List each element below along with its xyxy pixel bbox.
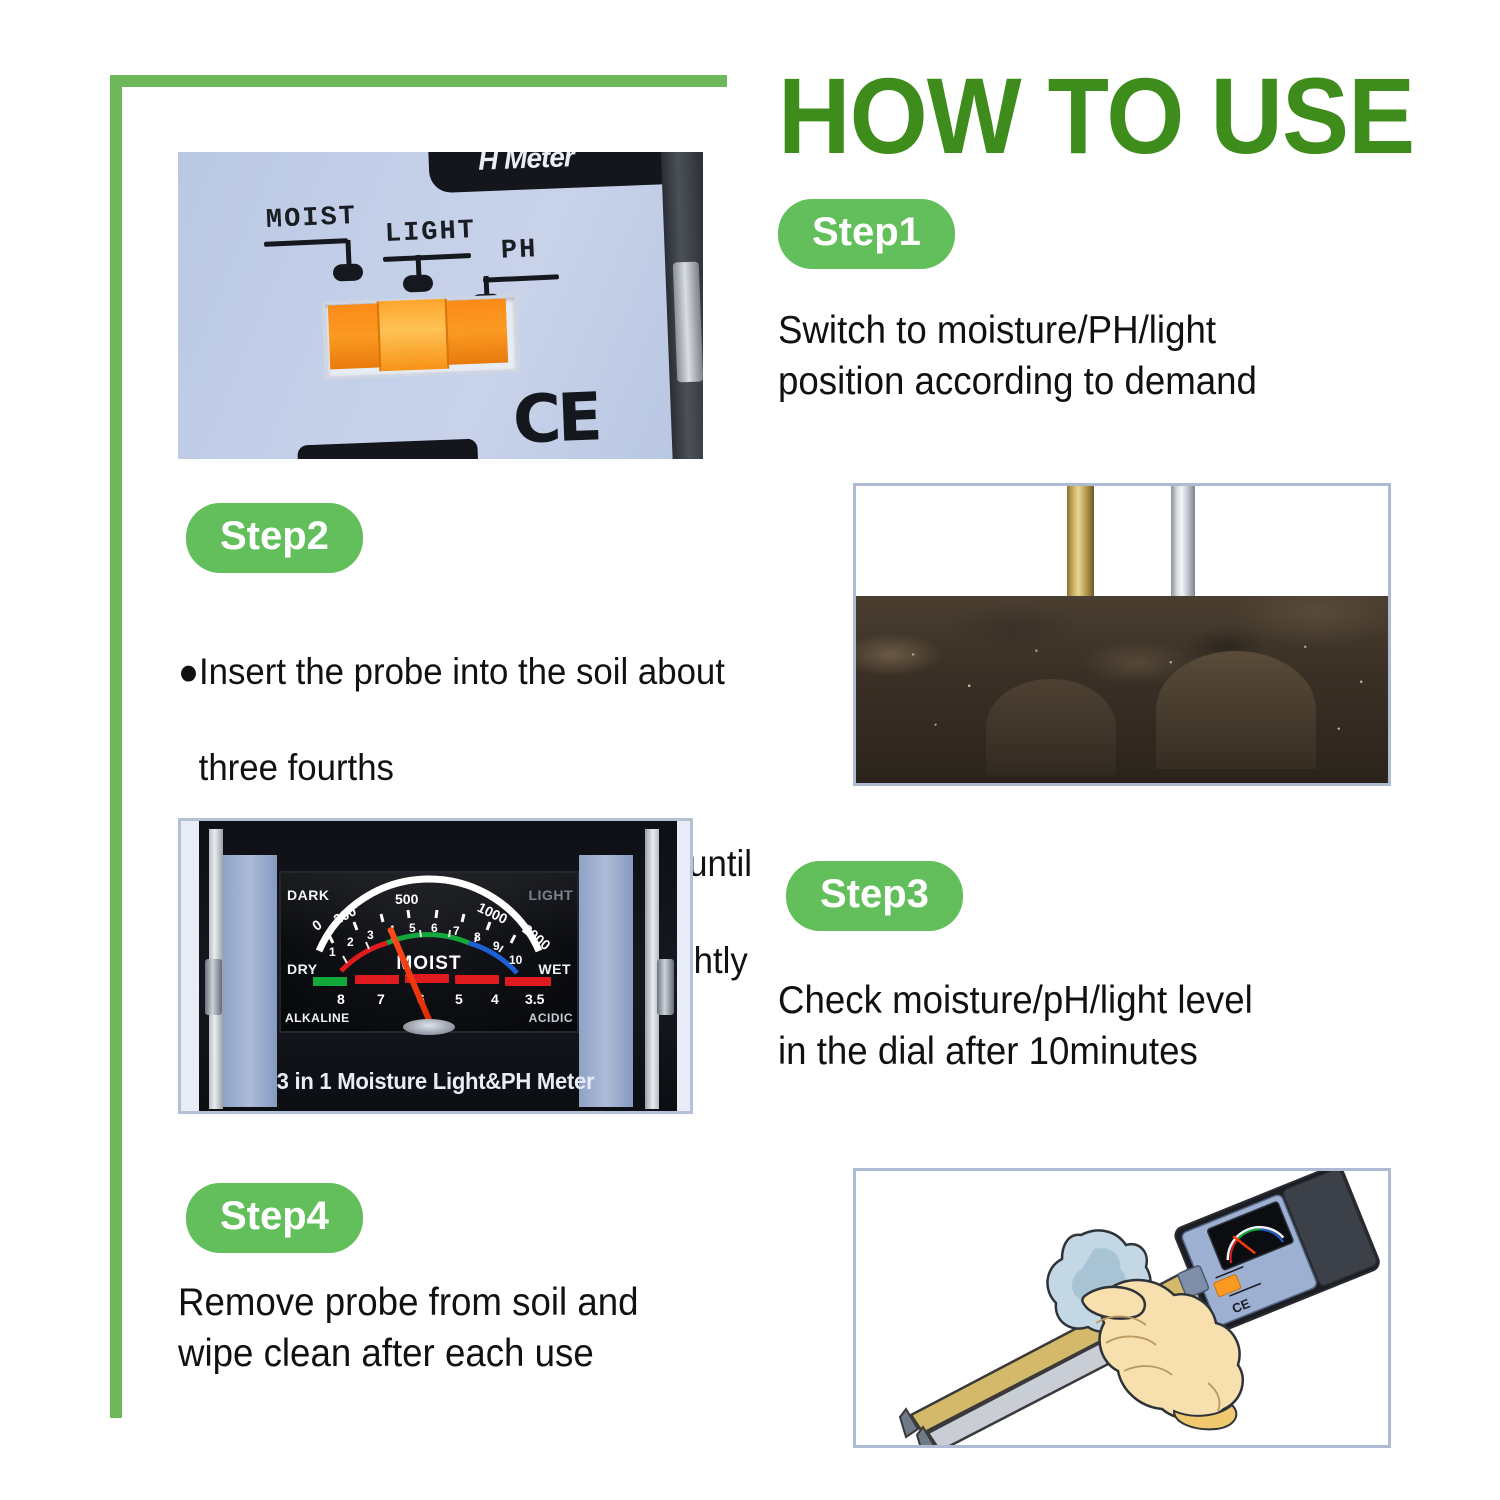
meter-clip-right	[657, 959, 674, 1015]
slider-grip[interactable]	[377, 299, 450, 372]
ph-tick-4: 4	[491, 991, 499, 1007]
moist-tick-6: 6	[431, 921, 438, 935]
ph-tick-8: 8	[337, 991, 345, 1007]
moist-tick-9: 9	[493, 939, 500, 953]
moist-tick-8: 8	[474, 930, 481, 944]
dial-face: DARK LIGHT DRY WET ALKALINE ACIDIC	[279, 871, 579, 1033]
green-border-top	[110, 75, 727, 87]
position-dot-moist	[333, 263, 364, 281]
step2-bullet-1-lead: ●Insert the probe into the soil about	[178, 648, 817, 696]
switch-label-moist: MOIST	[265, 202, 357, 236]
switch-label-ph: PH	[500, 235, 538, 267]
moist-tick-3: 3	[367, 928, 374, 942]
step2-bullet-1-cont: three fourths	[178, 744, 817, 792]
soil-mound-right	[1156, 651, 1316, 769]
ce-mark-icon: CE	[512, 378, 600, 458]
dial-scale-arcs	[281, 873, 577, 1031]
step1-badge: Step1	[778, 199, 955, 269]
step3-text: Check moisture/pH/light level in the dia…	[778, 975, 1398, 1078]
step3-badge: Step3	[786, 861, 963, 931]
dial-bar-red-4	[505, 977, 551, 986]
stem-light	[416, 255, 422, 277]
page-title: HOW TO USE	[778, 62, 1414, 170]
dial-bar-red-3	[455, 975, 499, 984]
wipe-probes-illustration: CE	[853, 1168, 1391, 1448]
step2-badge: Step2	[186, 503, 363, 573]
moist-tick-1: 1	[329, 945, 336, 959]
green-border-left	[110, 75, 122, 1418]
meter-clip-left	[205, 959, 222, 1015]
ph-tick-7: 7	[377, 991, 385, 1007]
probes-in-soil-photo	[853, 483, 1391, 786]
switch-label-light: LIGHT	[384, 216, 476, 250]
dial-needle-pivot	[403, 1019, 455, 1035]
stem-moist	[345, 240, 351, 266]
meter-hinge	[673, 262, 703, 383]
step1-text: Switch to moisture/PH/light position acc…	[778, 305, 1398, 408]
dial-bar-green	[313, 977, 347, 986]
dial-bar-red-1	[355, 975, 399, 984]
step4-badge: Step4	[186, 1183, 363, 1253]
soil-mound-left	[986, 679, 1116, 775]
position-dot-light	[403, 274, 434, 292]
moist-tick-7: 7	[453, 924, 460, 938]
step4-text: Remove probe from soil and wipe clean af…	[178, 1277, 817, 1380]
meter-model-label: 3 in 1 Moisture Light&PH Meter	[191, 1068, 680, 1095]
ph-tick-5: 5	[455, 991, 463, 1007]
lux-tick-500: 500	[395, 891, 418, 907]
moist-tick-10: 10	[509, 953, 522, 967]
wipe-illustration-svg: CE	[856, 1171, 1388, 1445]
meter-dial-photo: DARK LIGHT DRY WET ALKALINE ACIDIC	[178, 818, 693, 1114]
moist-tick-2: 2	[347, 935, 354, 949]
meter-switch-photo: H Meter MOIST LIGHT PH CE	[178, 152, 703, 459]
moist-tick-5: 5	[409, 921, 416, 935]
ph-tick-3.5: 3.5	[525, 991, 544, 1007]
